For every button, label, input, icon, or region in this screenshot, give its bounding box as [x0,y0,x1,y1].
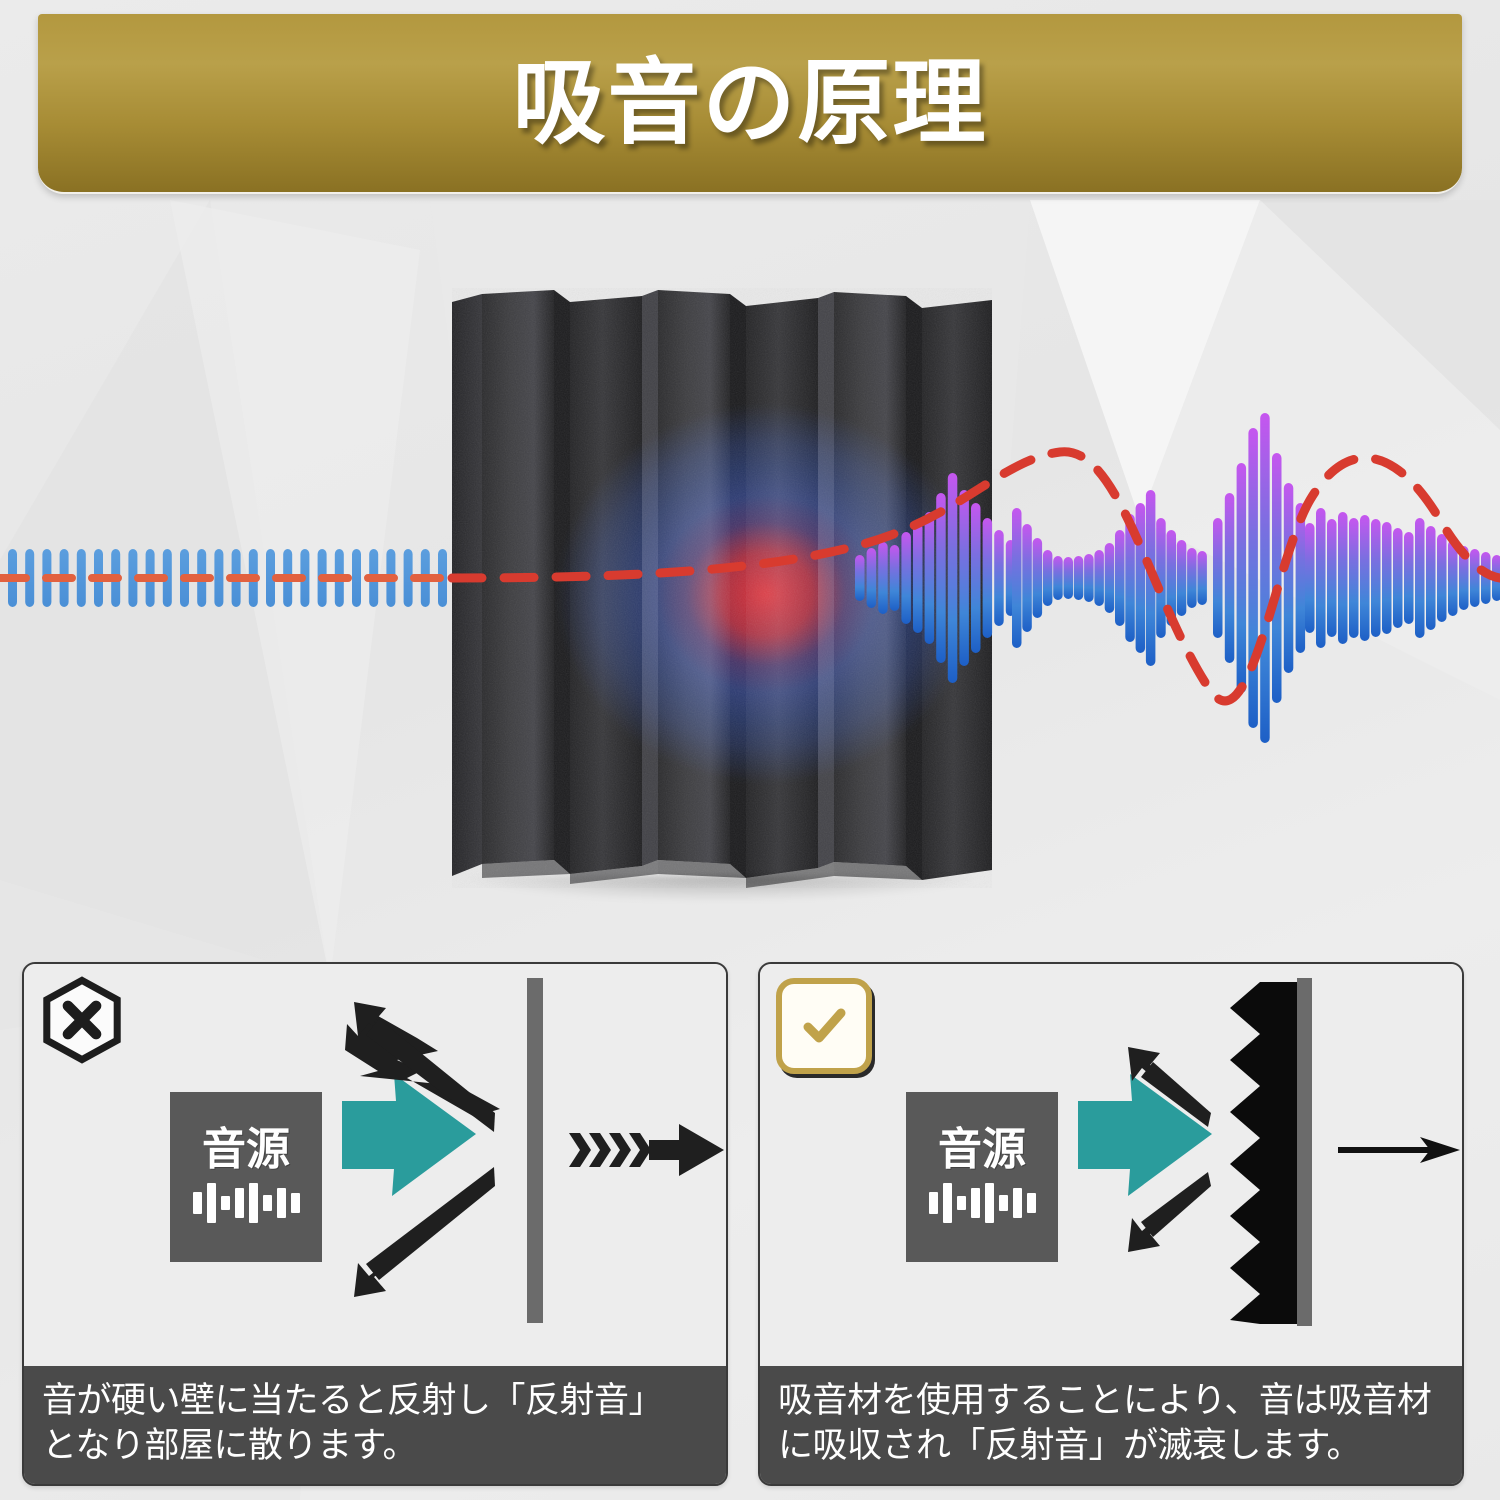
waveform-bar [994,530,1004,626]
card-absorption-illustration: 音源 [760,964,1462,1364]
infographic-root: 吸音の原理 [0,0,1500,1500]
waveform-bar [1437,534,1447,622]
waveform-bar [1404,532,1414,624]
waveform-bar [1305,523,1315,633]
acoustic-foam-sawtooth [1230,982,1260,1324]
card-reflection-caption: 音が硬い壁に当たると反射し「反射音」 となり部屋に散ります。 [24,1366,726,1484]
waveform-bar [1426,526,1436,630]
transmitted-arrow [1338,1137,1460,1163]
waveform-bar [901,532,911,624]
waveform-bar [1022,524,1032,632]
waveform-bar [913,523,923,633]
waveform-bar [1327,519,1337,637]
waveform-bar [1260,413,1270,743]
caption-line-1: 音が硬い壁に当たると反射し「反射音」 [42,1379,710,1424]
waveform-bar [214,549,223,607]
waveform-bar [878,542,888,614]
waveform-bar [1053,556,1063,600]
caption-line-2: となり部屋に散ります。 [42,1424,710,1469]
card-reflection-illustration: 音源 [24,964,726,1364]
waveform-bar [1177,540,1187,616]
card-reflection[interactable]: 音源 [22,962,728,1486]
waveform-bar [1064,557,1074,599]
waveform-bar [1197,551,1207,605]
waveform-bar [1213,518,1223,638]
hard-wall [527,978,543,1323]
card-absorption-caption: 吸音材を使用することにより、音は吸音材 に吸収され「反射音」が滅衰します。 [760,1366,1462,1484]
waveform-bar [1074,556,1084,600]
waveform-bar [1248,428,1258,728]
waveform-bar [1272,453,1282,703]
waveform-bar [1105,543,1115,613]
waveform-bar [1043,550,1053,606]
waveform-bar [77,549,86,607]
waveform-bar [890,545,900,611]
waveform-bar [352,549,361,607]
waveform-bar [1084,554,1094,602]
waveform-bar [1338,512,1348,644]
waveform-bar [1296,503,1306,653]
waveform-bar [1012,508,1022,648]
waveform-bar [1136,503,1146,653]
waveform-bar [1284,483,1294,673]
waveform-bar [1237,463,1247,693]
waveform-bar [1033,538,1043,618]
waveform-bar [1094,550,1104,606]
waveform-bar [855,555,865,601]
waveform-bar [1316,508,1326,648]
acoustic-foam-sawtooth-2 [1260,982,1297,1324]
reflection-diagram [24,964,726,1364]
waveform-bar [959,490,969,666]
waveform-bar [983,518,993,638]
waveform-bar [1371,519,1381,637]
treated-wall [1297,978,1312,1326]
waveform-bar [948,473,958,683]
waveform-bar [1187,548,1197,608]
caption-line-1: 吸音材を使用することにより、音は吸音材 [778,1379,1446,1424]
waveform-bar [971,503,981,653]
absorption-diagram [760,964,1462,1364]
waveform-bar [867,548,877,608]
waveform-bar [1393,528,1403,628]
waveform-bar [1470,549,1480,607]
waveform-bar [925,512,935,644]
card-absorption[interactable]: 音源 [758,962,1464,1486]
waveform-bar [1115,530,1125,626]
waveform-bar [1349,518,1359,638]
waveform-bar [1225,493,1235,663]
incoming-arrow [1078,1074,1212,1196]
transmitted-arrow [569,1124,724,1176]
waveform-bar [1415,518,1425,638]
waveform-bar [1382,522,1392,634]
waveform-bar [1360,515,1370,641]
caption-line-2: に吸収され「反射音」が滅衰します。 [778,1424,1446,1469]
